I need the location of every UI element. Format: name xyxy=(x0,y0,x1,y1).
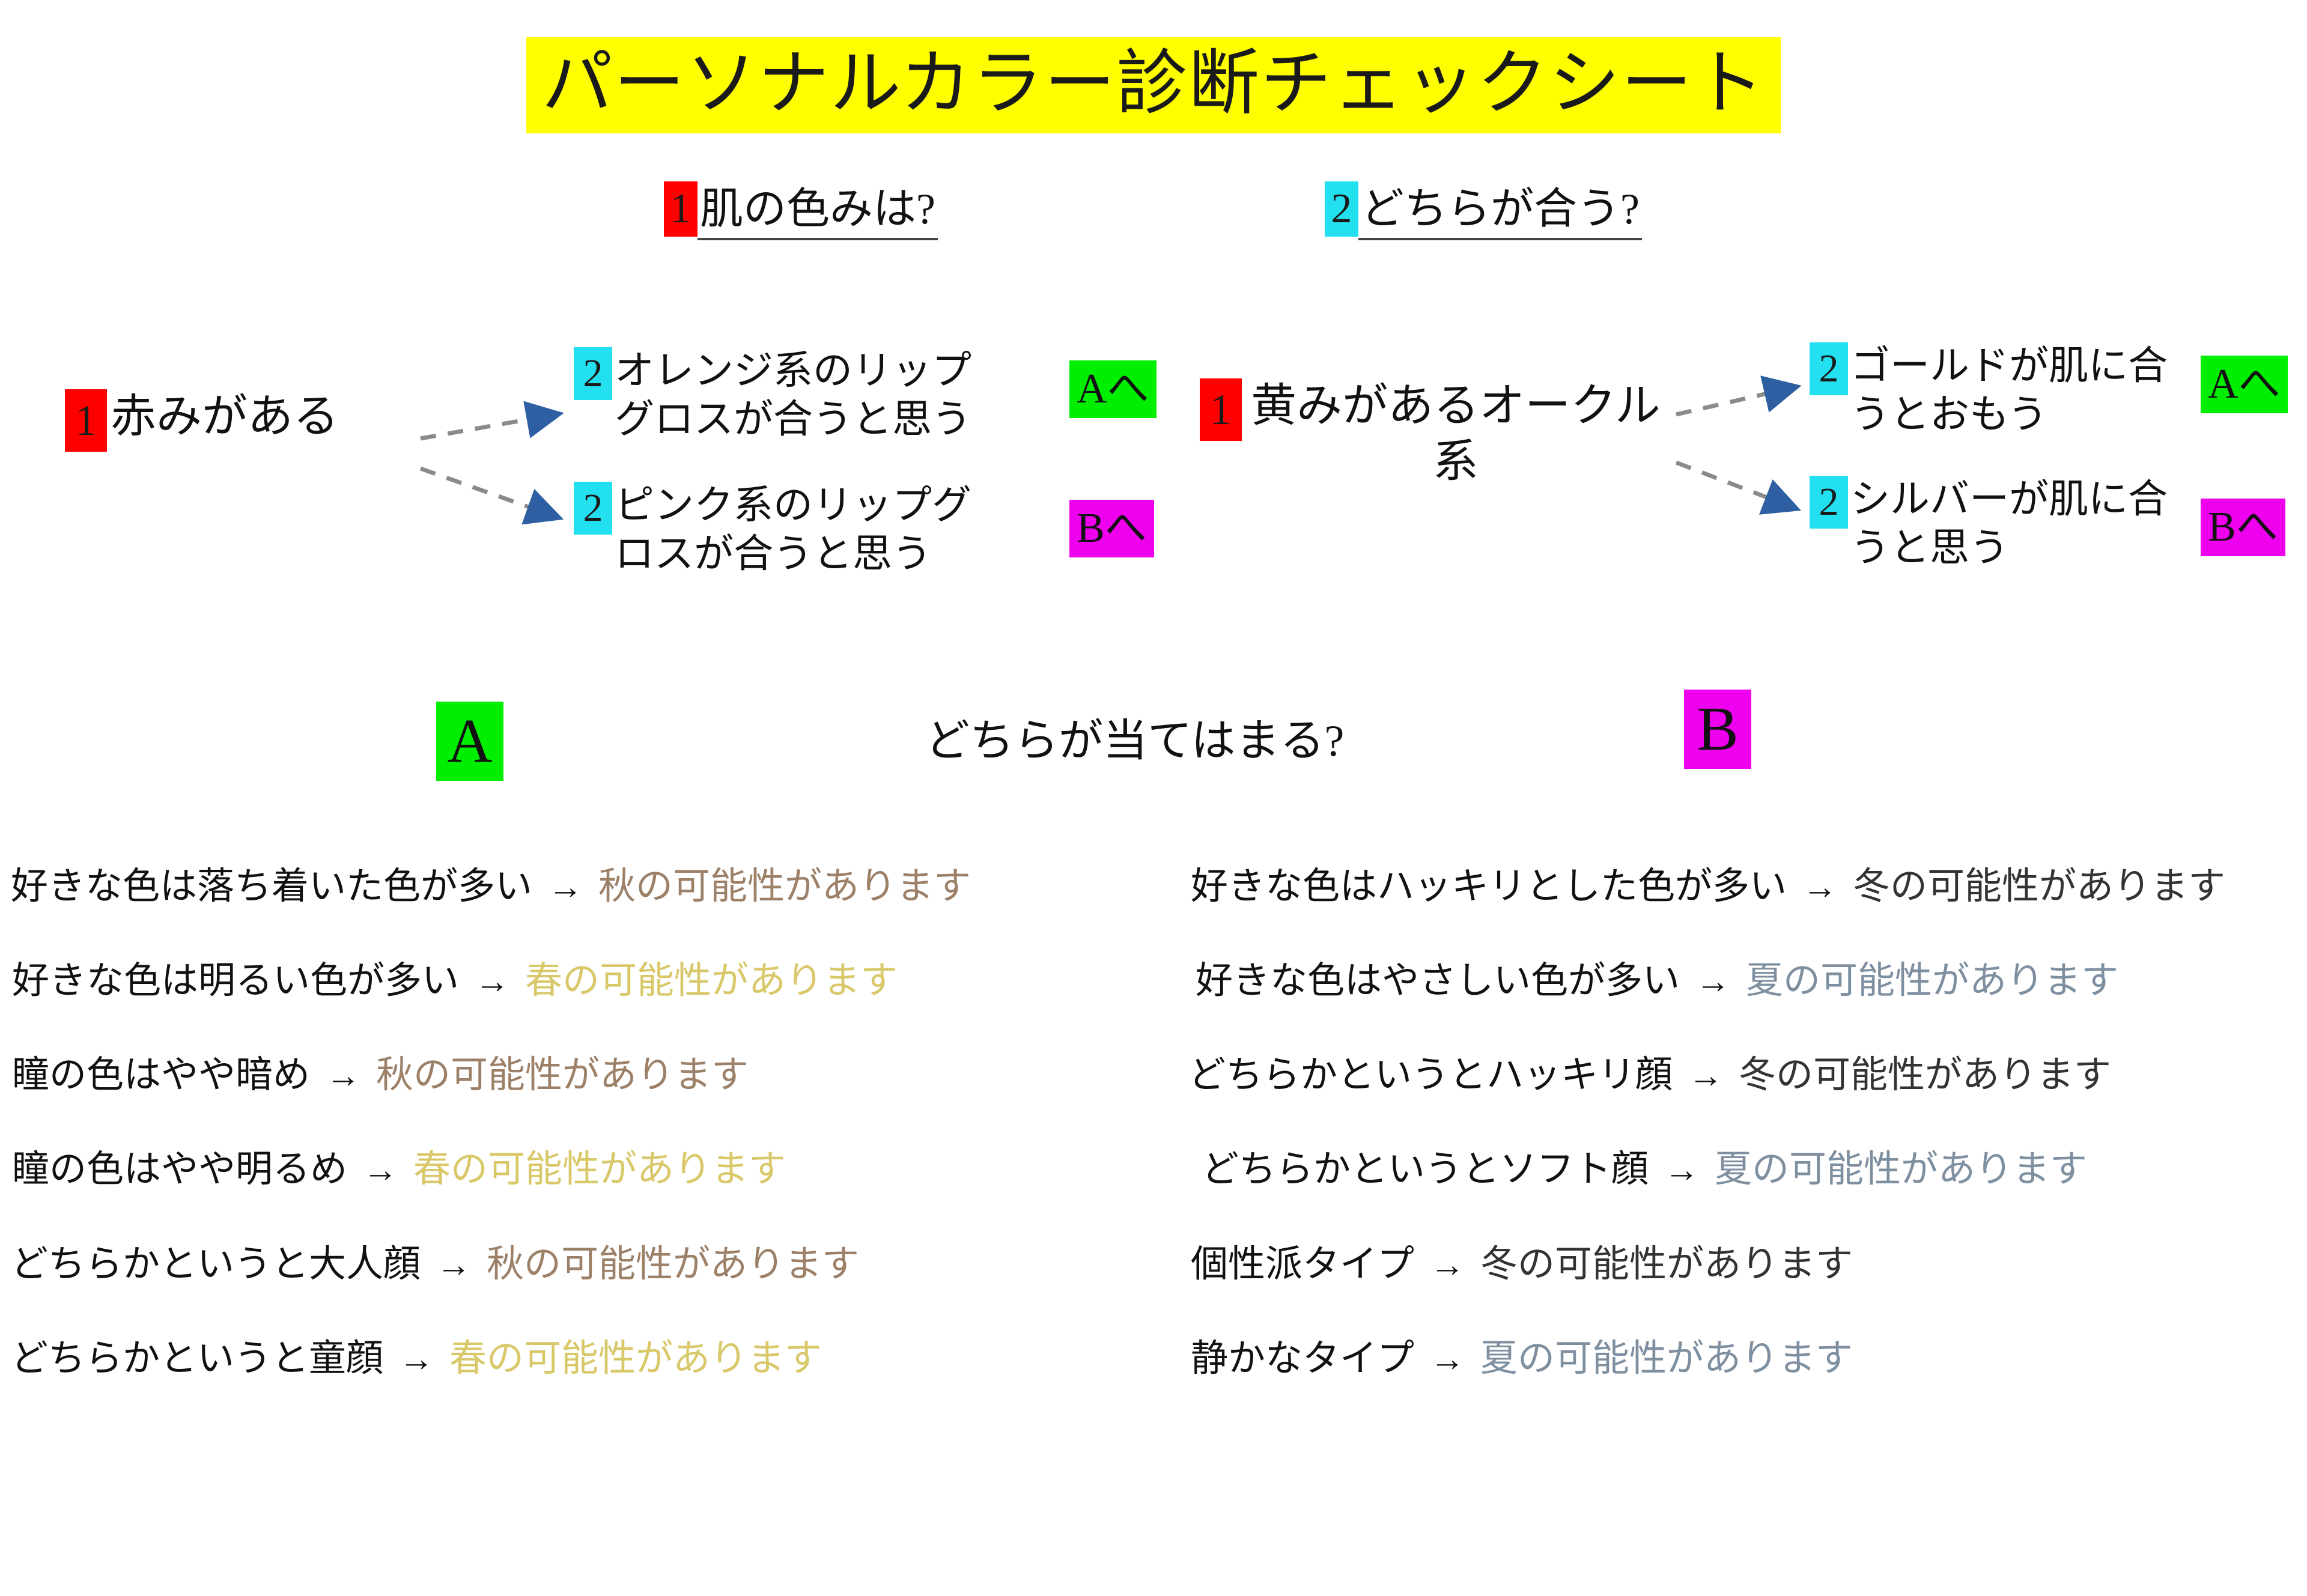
branch-2-option-1-goto[interactable]: Aへ xyxy=(2201,356,2288,413)
question-1-text: 肌の色みは? xyxy=(698,181,938,240)
check-sheet-canvas: パーソナルカラー診断チェックシート 1 肌の色みは? 2 どちらが合う? xyxy=(0,0,2307,1596)
branch-area: 1 赤みがある 2 オレンジ系のリップグロスが合うと思う Aへ 2 ピンク系のリ… xyxy=(0,318,2307,601)
result-condition: 瞳の色はやや明るめ xyxy=(12,1148,347,1192)
result-outcome: 春の可能性があります xyxy=(525,959,898,1003)
result-outcome: 秋の可能性があります xyxy=(598,865,971,909)
result-condition: どちらかというと童顔 xyxy=(11,1337,383,1381)
result-row: どちらかというと大人顔 → 秋の可能性があります xyxy=(11,1243,1152,1287)
ab-section-header: A どちらが当てはまる? B xyxy=(0,690,2307,822)
result-row: 好きな色はハッキリとした色が多い → 冬の可能性があります xyxy=(1191,865,2307,909)
ab-section-question: どちらが当てはまる? xyxy=(925,715,1344,768)
result-outcome: 冬の可能性があります xyxy=(1853,865,2225,909)
result-condition: どちらかというと大人顔 xyxy=(11,1243,421,1287)
result-arrow-icon: → xyxy=(1649,1150,1715,1191)
result-row: 瞳の色はやや暗め → 秋の可能性があります xyxy=(12,1054,1152,1097)
arrow-right-to-option-2 xyxy=(1676,463,1793,508)
result-row: 好きな色は明るい色が多い → 春の可能性があります xyxy=(12,959,1152,1003)
result-row: 静かなタイプ → 夏の可能性があります xyxy=(1191,1337,2307,1381)
result-condition: 好きな色は明るい色が多い xyxy=(12,959,459,1003)
branch-1-stem-badge: 1 xyxy=(65,389,107,452)
branch-1-option-1-text: オレンジ系のリップグロスが合うと思う xyxy=(612,347,999,444)
result-row: どちらかというとハッキリ顔 → 冬の可能性があります xyxy=(1188,1054,2307,1097)
branch-1-option-1-goto[interactable]: Aへ xyxy=(1069,360,1157,418)
result-row: 好きな色は落ち着いた色が多い → 秋の可能性があります xyxy=(11,865,1152,909)
page-title-wrap: パーソナルカラー診断チェックシート xyxy=(0,37,2307,133)
result-arrow-icon: → xyxy=(310,1055,376,1096)
result-arrow-icon: → xyxy=(1787,867,1853,908)
question-header-row: 1 肌の色みは? 2 どちらが合う? xyxy=(0,180,2307,252)
result-row: 個性派タイプ → 冬の可能性があります xyxy=(1191,1243,2307,1287)
question-1-header: 1 肌の色みは? xyxy=(664,181,938,240)
result-outcome: 冬の可能性があります xyxy=(1739,1054,2111,1097)
result-row: 瞳の色はやや明るめ → 春の可能性があります xyxy=(12,1148,1152,1192)
branch-2-option-2-text: シルバーが肌に合うと思う xyxy=(1848,476,2187,572)
arrow-left-to-option-2 xyxy=(421,469,556,517)
arrow-left-to-option-1 xyxy=(421,414,556,438)
branch-1-option-2-goto[interactable]: Bへ xyxy=(1069,500,1154,557)
question-2-text: どちらが合う? xyxy=(1358,181,1642,240)
result-row: どちらかというと童顔 → 春の可能性があります xyxy=(11,1337,1152,1381)
result-arrow-icon: → xyxy=(1414,1245,1480,1285)
result-outcome: 夏の可能性があります xyxy=(1715,1148,2087,1192)
result-arrow-icon: → xyxy=(1673,1055,1739,1096)
result-condition: 瞳の色はやや暗め xyxy=(12,1054,310,1097)
result-row: 好きな色はやさしい色が多い → 夏の可能性があります xyxy=(1196,959,2307,1003)
results-column-a: 好きな色は落ち着いた色が多い → 秋の可能性があります 好きな色は明るい色が多い… xyxy=(11,865,1152,1431)
result-arrow-icon: → xyxy=(1414,1339,1480,1380)
branch-1-option-2[interactable]: 2 ピンク系のリップグロスが合うと思う xyxy=(574,482,999,578)
result-arrow-icon: → xyxy=(421,1245,487,1285)
result-arrow-icon: → xyxy=(532,867,598,908)
result-outcome: 夏の可能性があります xyxy=(1746,959,2118,1003)
branch-2-option-2[interactable]: 2 シルバーが肌に合うと思う xyxy=(1810,476,2187,572)
branch-2-option-1[interactable]: 2 ゴールドが肌に合うとおもう xyxy=(1810,342,2187,439)
branch-2-option-1-text: ゴールドが肌に合うとおもう xyxy=(1848,342,2187,439)
branch-1-option-2-badge: 2 xyxy=(574,482,612,535)
branch-1-stem: 1 赤みがある xyxy=(65,389,339,452)
result-condition: 好きな色は落ち着いた色が多い xyxy=(11,865,532,909)
branch-1-option-2-text: ピンク系のリップグロスが合うと思う xyxy=(612,482,999,578)
results-column-b: 好きな色はハッキリとした色が多い → 冬の可能性があります 好きな色はやさしい色… xyxy=(1178,865,2307,1431)
branch-1-option-1[interactable]: 2 オレンジ系のリップグロスが合うと思う xyxy=(574,347,999,444)
result-arrow-icon: → xyxy=(1680,961,1746,1002)
result-condition: 静かなタイプ xyxy=(1191,1337,1414,1381)
question-2-header: 2 どちらが合う? xyxy=(1325,181,1642,240)
branch-2-stem: 1 黄みがあるオークル系 xyxy=(1200,378,1666,490)
result-condition: どちらかというとハッキリ顔 xyxy=(1188,1054,1673,1097)
branch-2-option-2-goto[interactable]: Bへ xyxy=(2201,499,2285,556)
group-b-label: B xyxy=(1684,690,1751,769)
question-1-number-badge: 1 xyxy=(664,181,698,237)
branch-1-option-1-badge: 2 xyxy=(574,347,612,400)
branch-2-stem-text: 黄みがあるオークル系 xyxy=(1242,378,1666,490)
result-arrow-icon: → xyxy=(383,1339,449,1380)
result-row: どちらかというとソフト顔 → 夏の可能性があります xyxy=(1202,1148,2307,1192)
result-outcome: 秋の可能性があります xyxy=(376,1054,749,1097)
branch-2-stem-badge: 1 xyxy=(1200,378,1242,441)
result-condition: 好きな色はハッキリとした色が多い xyxy=(1191,865,1787,909)
results-area: 好きな色は落ち着いた色が多い → 秋の可能性があります 好きな色は明るい色が多い… xyxy=(0,865,2307,1526)
result-condition: 個性派タイプ xyxy=(1191,1243,1414,1287)
result-outcome: 春の可能性があります xyxy=(449,1337,822,1381)
page-title: パーソナルカラー診断チェックシート xyxy=(526,37,1781,133)
result-condition: どちらかというとソフト顔 xyxy=(1202,1148,1649,1192)
arrow-right-to-option-1 xyxy=(1676,387,1793,414)
result-outcome: 秋の可能性があります xyxy=(487,1243,859,1287)
result-arrow-icon: → xyxy=(459,961,525,1002)
question-2-number-badge: 2 xyxy=(1325,181,1358,237)
group-a-label: A xyxy=(436,702,503,781)
result-outcome: 冬の可能性があります xyxy=(1480,1243,1853,1287)
result-condition: 好きな色はやさしい色が多い xyxy=(1196,959,1680,1003)
result-outcome: 夏の可能性があります xyxy=(1480,1337,1853,1381)
branch-2-option-1-badge: 2 xyxy=(1810,342,1848,395)
result-outcome: 春の可能性があります xyxy=(413,1148,786,1192)
result-arrow-icon: → xyxy=(347,1150,413,1191)
branch-2-option-2-badge: 2 xyxy=(1810,476,1848,529)
branch-1-stem-text: 赤みがある xyxy=(107,389,339,445)
